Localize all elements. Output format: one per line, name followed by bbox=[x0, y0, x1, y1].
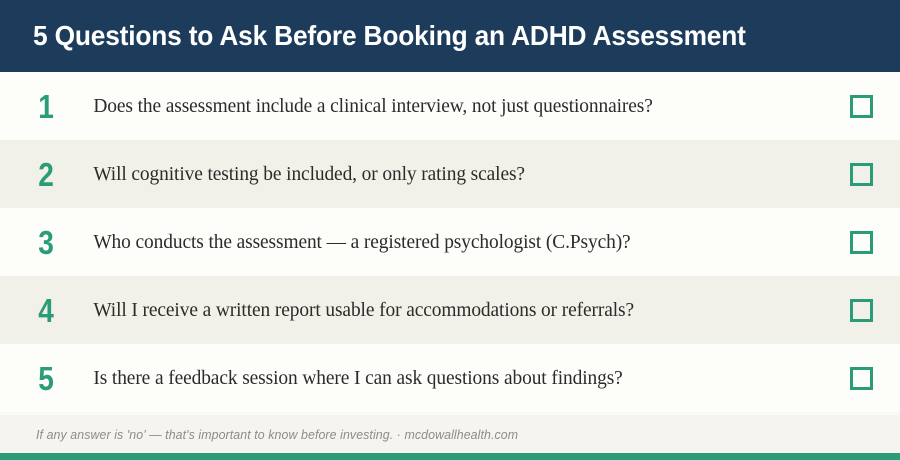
item-number: 5 bbox=[24, 362, 68, 395]
question-list: 1 Does the assessment include a clinical… bbox=[0, 72, 900, 415]
item-question: Will cognitive testing be included, or o… bbox=[72, 162, 800, 187]
item-number: 1 bbox=[24, 90, 68, 123]
list-item[interactable]: 5 Is there a feedback session where I ca… bbox=[0, 344, 900, 412]
item-question: Is there a feedback session where I can … bbox=[72, 366, 800, 391]
item-number: 3 bbox=[24, 226, 68, 259]
checkbox-cell[interactable] bbox=[822, 95, 900, 118]
adhd-assessment-checklist-infographic: 5 Questions to Ask Before Booking an ADH… bbox=[0, 0, 900, 460]
list-item[interactable]: 1 Does the assessment include a clinical… bbox=[0, 72, 900, 140]
checkbox-cell[interactable] bbox=[822, 231, 900, 254]
page-title: 5 Questions to Ask Before Booking an ADH… bbox=[33, 22, 746, 50]
checkbox-cell[interactable] bbox=[822, 367, 900, 390]
footer-bar: If any answer is 'no' — that's important… bbox=[0, 415, 900, 453]
item-number: 4 bbox=[24, 294, 68, 327]
checkbox-unchecked-icon[interactable] bbox=[850, 163, 873, 186]
checkbox-cell[interactable] bbox=[822, 163, 900, 186]
checkbox-unchecked-icon[interactable] bbox=[850, 95, 873, 118]
item-question: Does the assessment include a clinical i… bbox=[72, 94, 800, 119]
footer-note: If any answer is 'no' — that's important… bbox=[36, 427, 518, 442]
list-item[interactable]: 4 Will I receive a written report usable… bbox=[0, 276, 900, 344]
list-item[interactable]: 3 Who conducts the assessment — a regist… bbox=[0, 208, 900, 276]
item-question: Who conducts the assessment — a register… bbox=[72, 230, 800, 255]
list-item[interactable]: 2 Will cognitive testing be included, or… bbox=[0, 140, 900, 208]
item-question: Will I receive a written report usable f… bbox=[72, 298, 800, 323]
checkbox-unchecked-icon[interactable] bbox=[850, 367, 873, 390]
item-number: 2 bbox=[24, 158, 68, 191]
checkbox-cell[interactable] bbox=[822, 299, 900, 322]
checkbox-unchecked-icon[interactable] bbox=[850, 231, 873, 254]
bottom-accent-bar bbox=[0, 453, 900, 460]
header-banner: 5 Questions to Ask Before Booking an ADH… bbox=[0, 0, 900, 72]
checkbox-unchecked-icon[interactable] bbox=[850, 299, 873, 322]
